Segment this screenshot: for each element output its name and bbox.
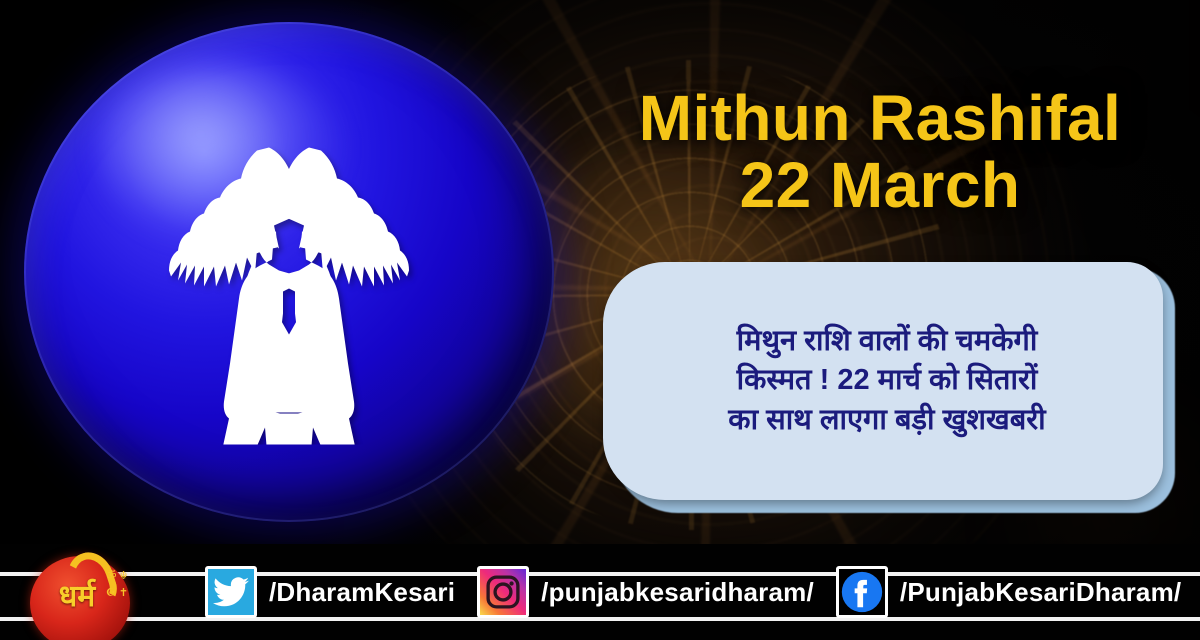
social-link-facebook[interactable]: /PunjabKesariDharam/: [836, 566, 1200, 618]
social-handles: /DharamKesari /punjabkesaridharam/: [205, 548, 1200, 636]
card-line-2: किस्मत ! 22 मार्च को सितारों: [728, 361, 1045, 400]
social-bar: धर्म ॐ ☬ ☪ ✝ /DharamKesari: [0, 544, 1200, 640]
facebook-f-icon: [836, 566, 888, 618]
gemini-twins-icon: [124, 115, 454, 450]
social-link-twitter[interactable]: /DharamKesari: [205, 566, 477, 618]
card-line-3: का साथ लाएगा बड़ी खुशखबरी: [728, 401, 1045, 440]
twitter-handle-label: /DharamKesari: [269, 577, 455, 608]
twitter-bird-icon: [205, 566, 257, 618]
logo-religious-symbols: ॐ ☬ ☪ ✝: [104, 568, 130, 601]
gemini-sphere: [24, 22, 554, 522]
dharam-kesari-logo[interactable]: धर्म ॐ ☬ ☪ ✝: [22, 550, 138, 640]
horoscope-banner: Mithun Rashifal 22 March मिथुन राशि वालो…: [0, 0, 1200, 640]
instagram-camera-icon: [477, 566, 529, 618]
social-link-instagram[interactable]: /punjabkesaridharam/: [477, 566, 836, 618]
facebook-handle-label: /PunjabKesariDharam/: [900, 577, 1181, 608]
headline-card: मिथुन राशि वालों की चमकेगी किस्मत ! 22 म…: [603, 262, 1163, 500]
instagram-handle-label: /punjabkesaridharam/: [541, 577, 814, 608]
headline-card-text: मिथुन राशि वालों की चमकेगी किस्मत ! 22 म…: [694, 318, 1071, 443]
card-line-1: मिथुन राशि वालों की चमकेगी: [728, 322, 1045, 361]
